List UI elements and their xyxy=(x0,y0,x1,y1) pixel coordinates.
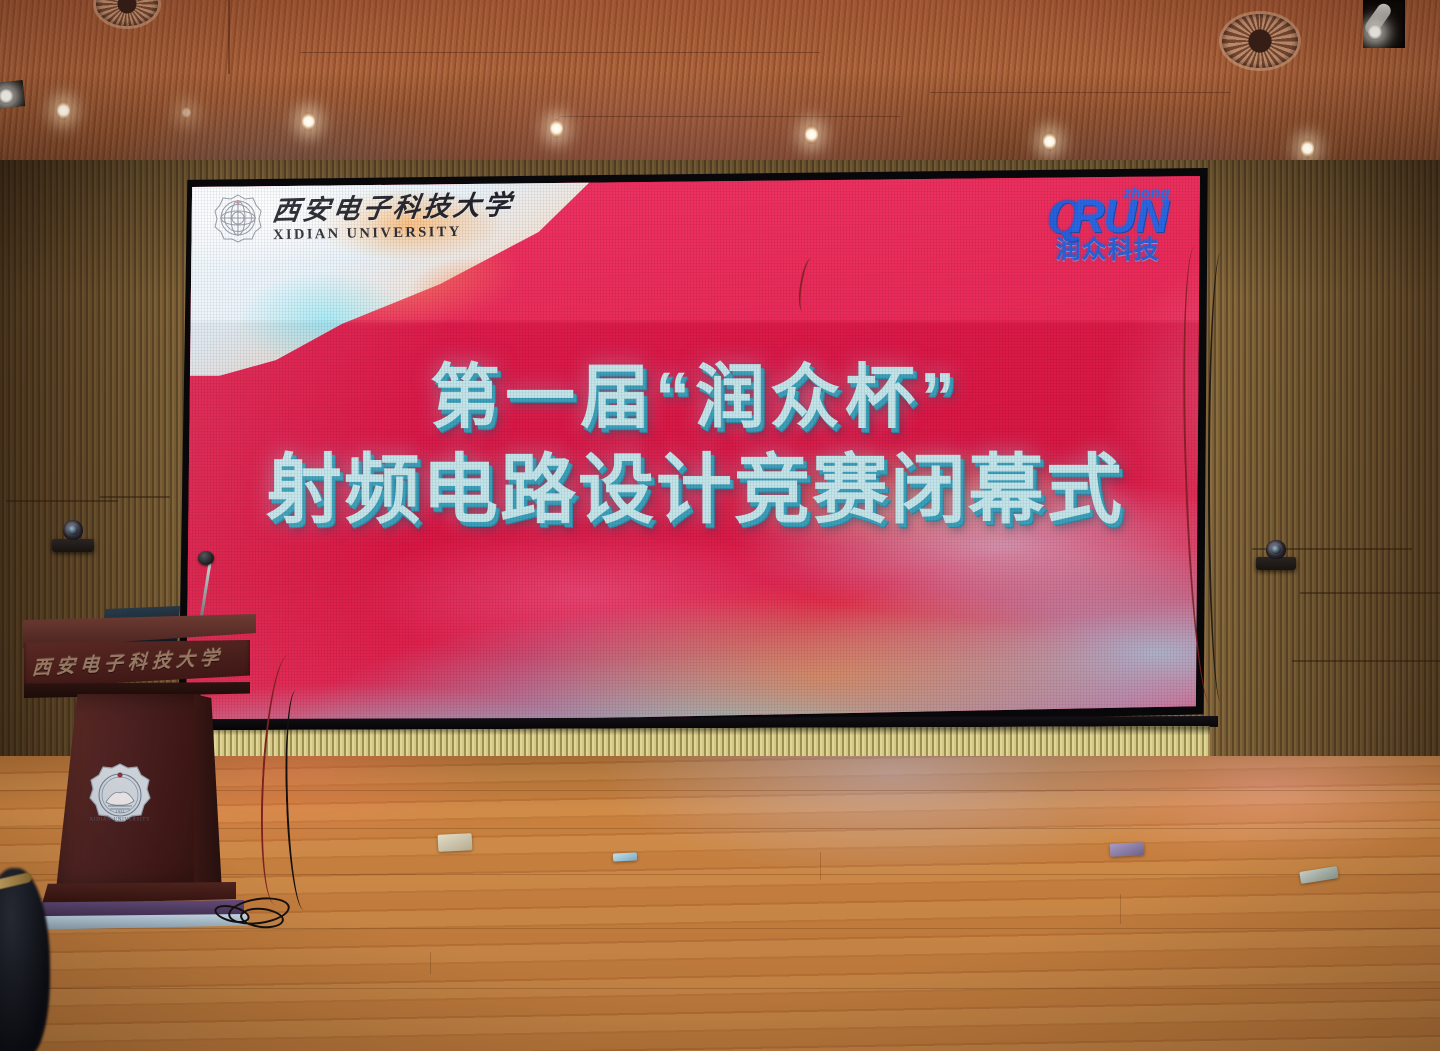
wall-panel-joint xyxy=(6,500,118,502)
floor-outlet-box-icon xyxy=(1110,842,1145,857)
recessed-downlight-icon xyxy=(1043,132,1056,151)
ceiling-seam xyxy=(228,0,230,74)
lectern-body-side xyxy=(194,694,222,892)
gooseneck-microphone-icon xyxy=(198,551,214,565)
circular-ceiling-vent-icon xyxy=(96,0,158,26)
recessed-downlight-icon xyxy=(182,106,191,119)
recessed-downlight-icon xyxy=(57,101,70,120)
wall-shadow-right xyxy=(1200,160,1440,780)
lectern-base-plinth xyxy=(24,914,248,930)
university-crest-icon: 1931 XIDIAN UNIVERSITY xyxy=(84,762,156,834)
recessed-spotlight-icon xyxy=(0,80,25,110)
ceiling-seam xyxy=(560,116,900,117)
led-pixel-grid xyxy=(186,176,1204,726)
ceiling-seam xyxy=(300,52,820,53)
ptz-camera-icon xyxy=(52,520,94,552)
audio-cable-icon xyxy=(1208,252,1234,702)
circular-ceiling-vent-icon xyxy=(1222,14,1298,68)
ceiling-panel xyxy=(0,0,1440,178)
lectern[interactable]: 西安电子科技大学 1931 XIDIAN UNIVERSITY xyxy=(18,614,256,936)
wall-panel-joint xyxy=(1300,592,1440,594)
ptz-camera-icon xyxy=(1256,540,1296,570)
floor-outlet-box-icon xyxy=(438,833,473,852)
wall-panel-joint xyxy=(1292,660,1440,662)
led-video-wall[interactable]: 西安电子科技大学 XIDIAN UNIVERSITY Q RUN zhong 润… xyxy=(186,176,1204,726)
recessed-downlight-icon xyxy=(302,112,315,131)
svg-text:1931: 1931 xyxy=(115,809,125,814)
recessed-spotlight-icon xyxy=(1363,0,1405,48)
auditorium-stage-photo: 西安电子科技大学 XIDIAN UNIVERSITY Q RUN zhong 润… xyxy=(0,0,1440,1051)
ceiling-seam xyxy=(930,92,1230,93)
wall-panel-joint xyxy=(100,496,170,498)
floor-outlet-box-icon xyxy=(1299,866,1338,884)
recessed-downlight-icon xyxy=(805,125,818,144)
recessed-downlight-icon xyxy=(550,119,563,138)
recessed-downlight-icon xyxy=(1301,139,1314,158)
floor-outlet-box-icon xyxy=(613,852,637,861)
svg-text:XIDIAN UNIVERSITY: XIDIAN UNIVERSITY xyxy=(90,818,151,823)
